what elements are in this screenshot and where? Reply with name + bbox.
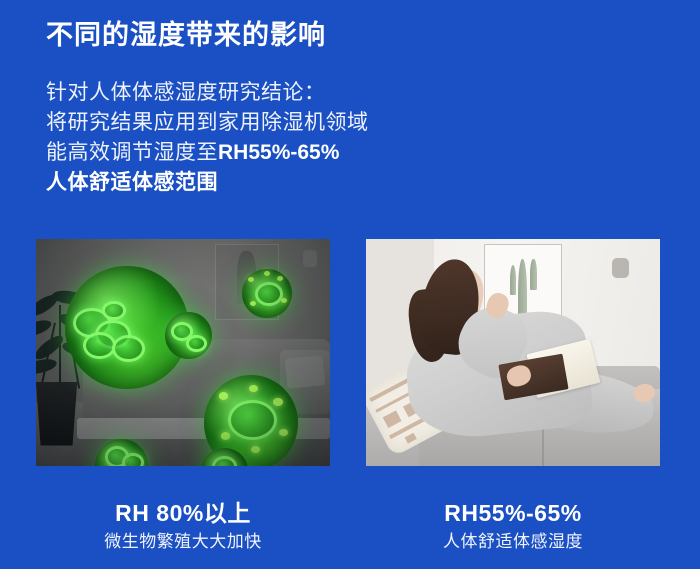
scene-vignette: [36, 239, 330, 466]
caption-high-humidity: RH 80%以上 微生物繁殖大大加快: [36, 498, 330, 555]
copy-line-3: 能高效调节湿度至RH55%-65%: [46, 138, 369, 168]
poster-root: 不同的湿度带来的影响 针对人体体感湿度研究结论： 将研究结果应用到家用除湿机领域…: [0, 0, 700, 569]
caption-sub: 微生物繁殖大大加快: [36, 529, 330, 555]
copy-line-2: 将研究结果应用到家用除湿机领域: [46, 108, 369, 138]
body-copy: 针对人体体感湿度研究结论： 将研究结果应用到家用除湿机领域 能高效调节湿度至RH…: [46, 78, 369, 198]
caption-sub: 人体舒适体感湿度: [366, 529, 660, 555]
bright-room-scene: [366, 239, 660, 466]
panel-comfort-humidity-image: [366, 239, 660, 466]
humidity-range-highlight: RH55%-65%: [218, 141, 339, 164]
wall-speaker-icon: [612, 258, 629, 278]
copy-line-4: 人体舒适体感范围: [46, 168, 369, 198]
copy-line-3-prefix: 能高效调节湿度至: [46, 141, 218, 164]
caption-main: RH55%-65%: [366, 498, 660, 528]
page-title: 不同的湿度带来的影响: [46, 16, 326, 54]
cactus-arm-left: [510, 265, 516, 296]
caption-comfort-humidity: RH55%-65% 人体舒适体感湿度: [366, 498, 660, 555]
copy-line-1: 针对人体体感湿度研究结论：: [46, 78, 369, 108]
cactus-arm-right: [530, 259, 536, 290]
panel-high-humidity-image: [36, 239, 330, 466]
dim-room-scene: [36, 239, 330, 466]
caption-main: RH 80%以上: [36, 498, 330, 528]
